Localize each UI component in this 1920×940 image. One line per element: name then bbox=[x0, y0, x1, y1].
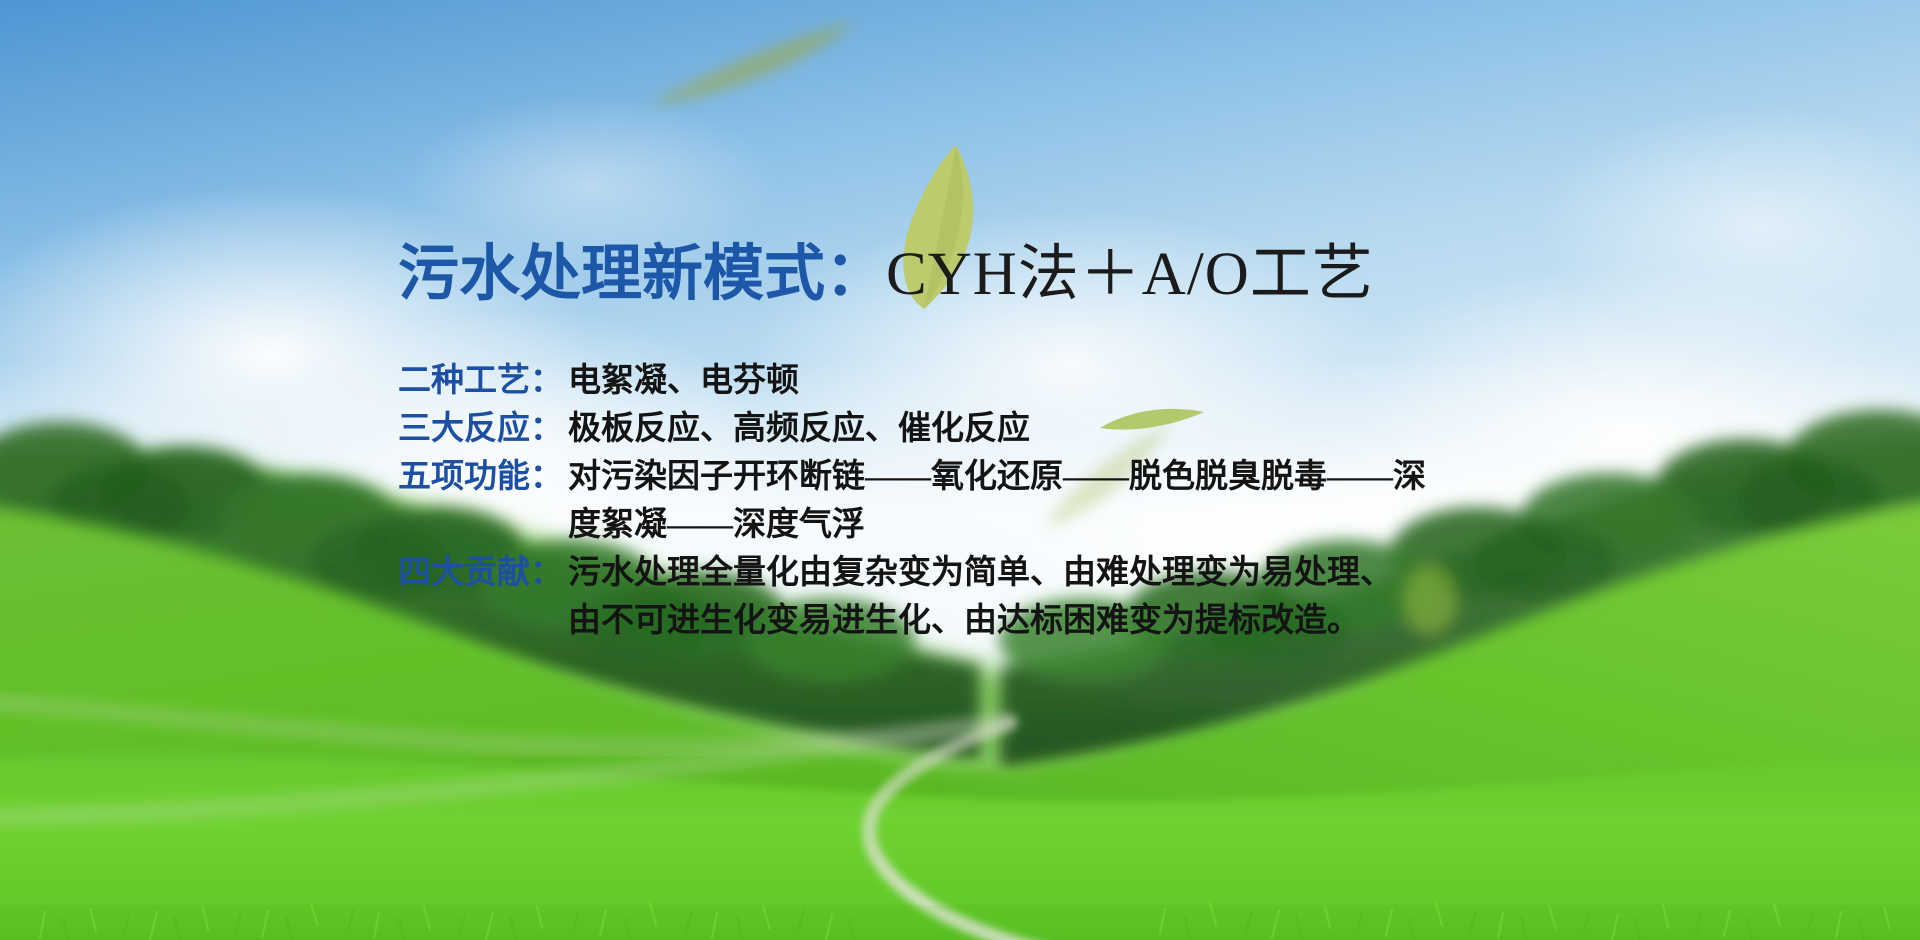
page-title-rest: CYH法＋A/O工艺 bbox=[886, 241, 1374, 308]
bullet-value: 对污染因子开环断链——氧化还原——脱色脱臭脱毒——深 度絮凝——深度气浮 bbox=[568, 454, 1598, 548]
page-title: 污水处理新模式：CYH法＋A/O工艺 bbox=[398, 243, 1374, 307]
bullet-value: 污水处理全量化由复杂变为简单、由难处理变为易处理、 由不可进生化变易进生化、由达… bbox=[568, 550, 1598, 644]
bullet-value: 极板反应、高频反应、催化反应 bbox=[568, 406, 1598, 452]
bullet-label: 三大反应： bbox=[398, 406, 568, 452]
bullet-row: 四大贡献： 污水处理全量化由复杂变为简单、由难处理变为易处理、 由不可进生化变易… bbox=[398, 550, 1598, 644]
slide-canvas: 污水处理新模式：CYH法＋A/O工艺 二种工艺： 电絮凝、电芬顿 三大反应： 极… bbox=[0, 0, 1920, 940]
page-title-highlight: 污水处理新模式： bbox=[398, 241, 886, 308]
bullet-line: 对污染因子开环断链——氧化还原——脱色脱臭脱毒——深 bbox=[568, 454, 1598, 500]
text-content: 污水处理新模式：CYH法＋A/O工艺 二种工艺： 电絮凝、电芬顿 三大反应： 极… bbox=[0, 0, 1920, 940]
bullet-label: 二种工艺： bbox=[398, 358, 568, 404]
bullet-label: 五项功能： bbox=[398, 454, 568, 500]
bullet-line: 极板反应、高频反应、催化反应 bbox=[568, 406, 1598, 452]
bullet-row: 五项功能： 对污染因子开环断链——氧化还原——脱色脱臭脱毒——深 度絮凝——深度… bbox=[398, 454, 1598, 548]
bullet-line: 污水处理全量化由复杂变为简单、由难处理变为易处理、 bbox=[568, 550, 1598, 596]
bullet-label: 四大贡献： bbox=[398, 550, 568, 596]
bullet-line: 度絮凝——深度气浮 bbox=[568, 502, 1598, 548]
bullet-line: 由不可进生化变易进生化、由达标困难变为提标改造。 bbox=[568, 598, 1598, 644]
bullet-list: 二种工艺： 电絮凝、电芬顿 三大反应： 极板反应、高频反应、催化反应 五项功能：… bbox=[398, 358, 1598, 646]
bullet-line: 电絮凝、电芬顿 bbox=[568, 358, 1598, 404]
bullet-row: 二种工艺： 电絮凝、电芬顿 bbox=[398, 358, 1598, 404]
bullet-row: 三大反应： 极板反应、高频反应、催化反应 bbox=[398, 406, 1598, 452]
bullet-value: 电絮凝、电芬顿 bbox=[568, 358, 1598, 404]
